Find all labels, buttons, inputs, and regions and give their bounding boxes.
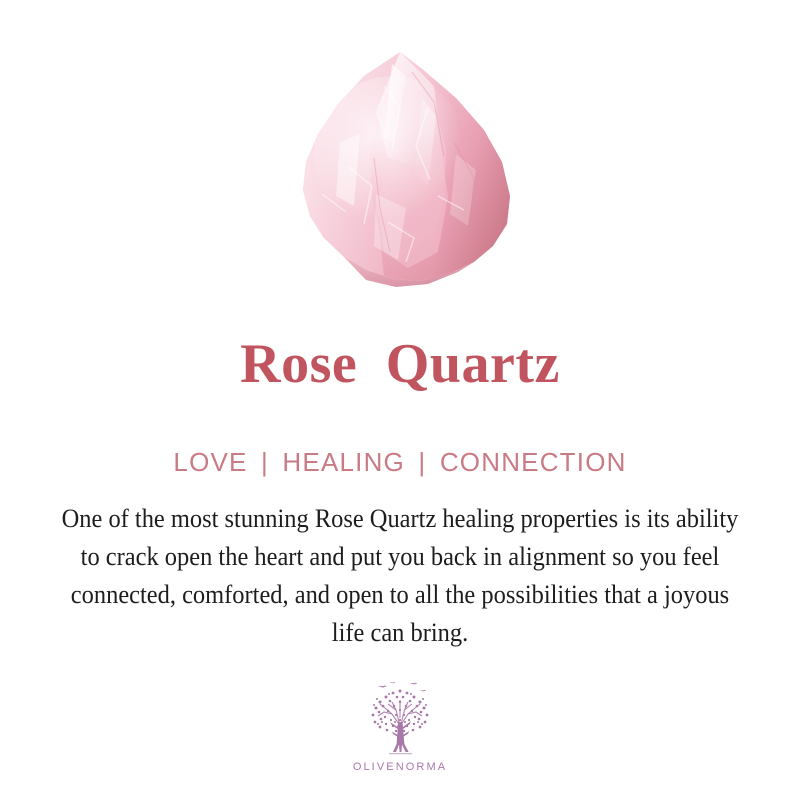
description-paragraph: One of the most stunning Rose Quartz hea…: [52, 500, 748, 652]
keyword-list: LOVE | HEALING | CONNECTION: [0, 446, 800, 478]
hero-image-area: [0, 0, 800, 300]
page-title: Rose Quartz: [0, 332, 800, 396]
olive-tree-icon: [352, 678, 448, 760]
keyword-separator-2: |: [413, 447, 431, 477]
keyword-healing: HEALING: [282, 447, 405, 477]
rose-quartz-product-card: Rose Quartz LOVE | HEALING | CONNECTION …: [0, 0, 800, 800]
keyword-connection: CONNECTION: [440, 447, 627, 477]
birds-icon: [378, 682, 426, 691]
brand-wordmark: OLIVENORMA: [353, 761, 447, 773]
keyword-love: LOVE: [173, 447, 247, 477]
crystal-inner-glow: [314, 76, 470, 240]
keyword-separator-1: |: [256, 447, 274, 477]
rose-quartz-crystal-image: [288, 46, 526, 290]
brand-logo: OLIVENORMA: [0, 678, 800, 773]
